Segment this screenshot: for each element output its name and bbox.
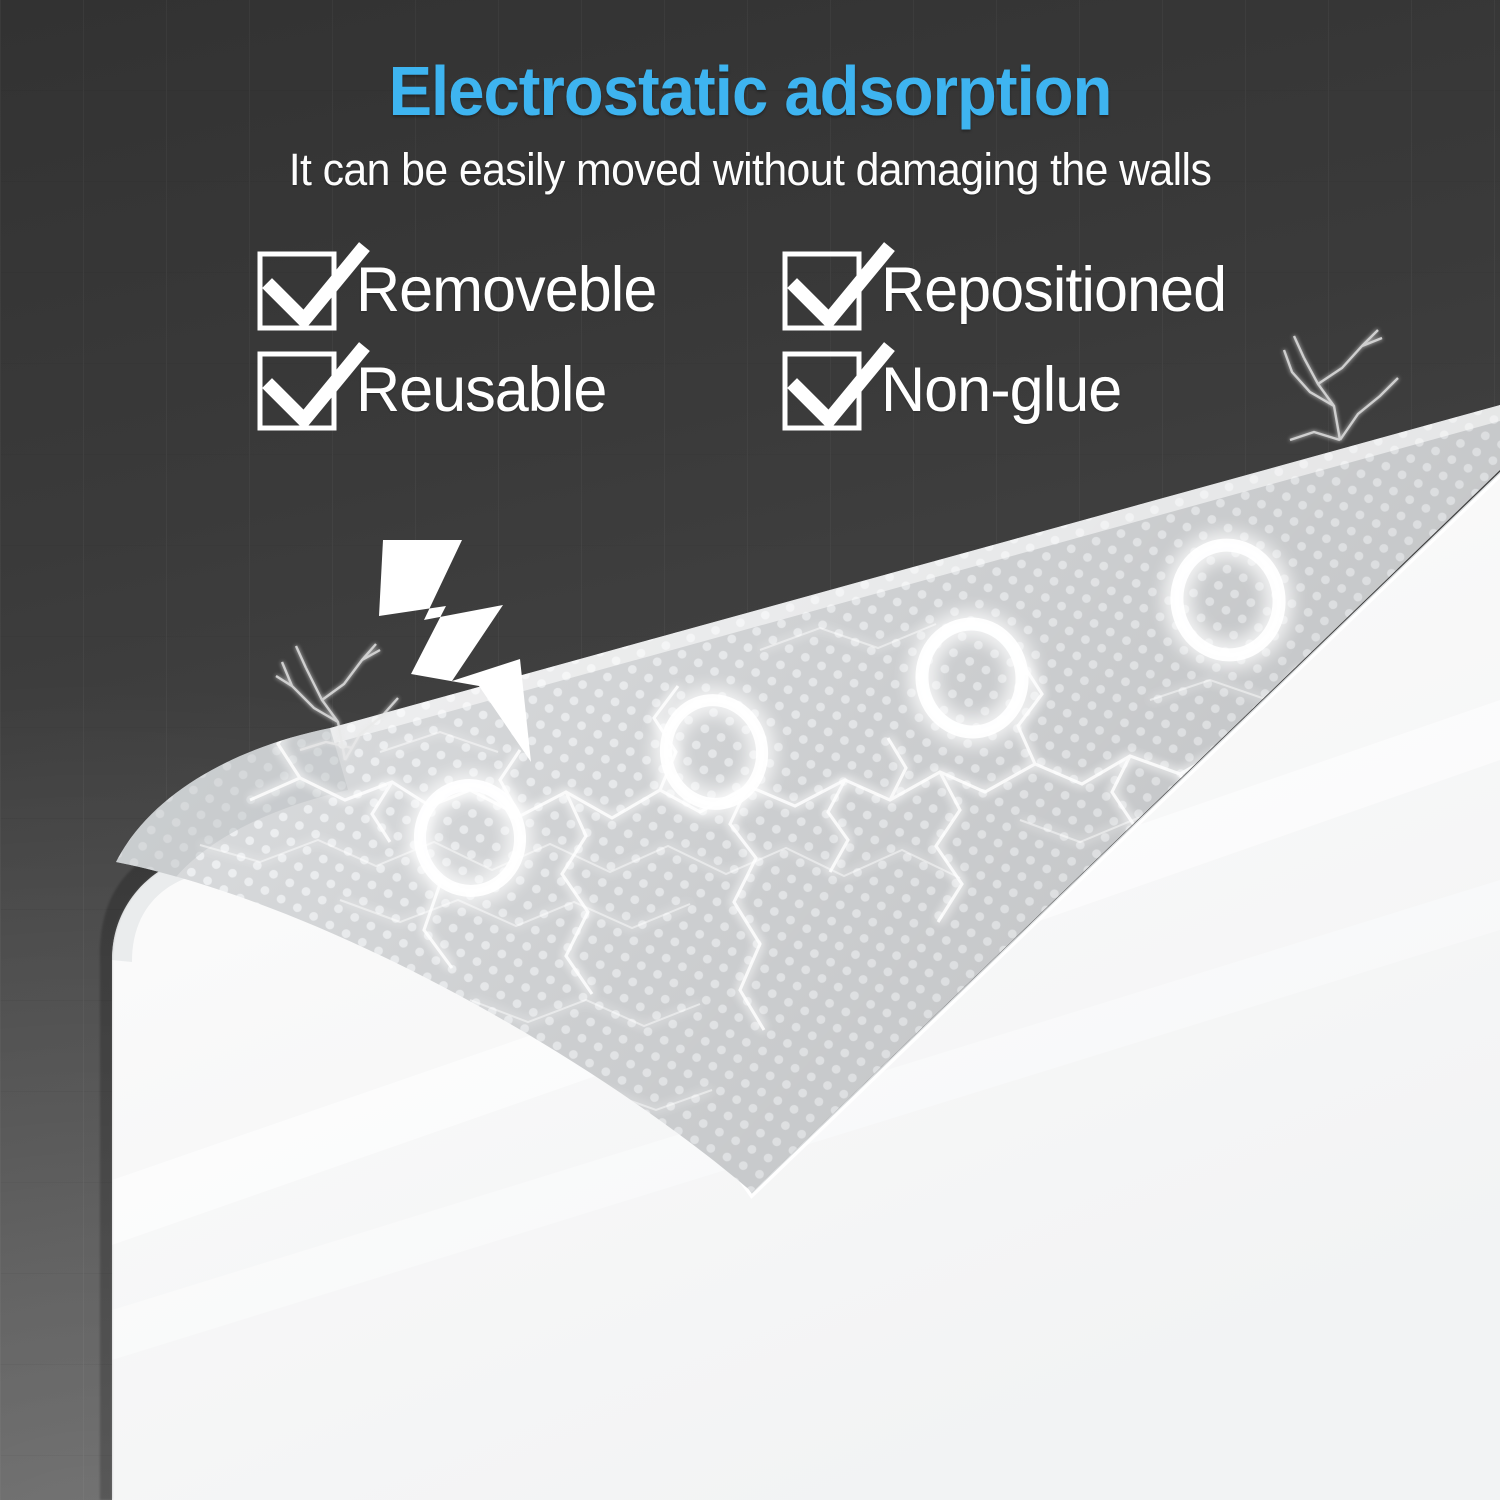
checkbox-checked-icon <box>258 252 334 328</box>
product-feature-graphic: Electrostatic adsorption It can be easil… <box>0 0 1500 1500</box>
feature-label: Repositioned <box>881 259 1226 322</box>
peeled-sheet-illustration <box>0 0 1500 1500</box>
checkbox-checked-icon <box>258 352 334 428</box>
page-subtitle: It can be easily moved without damaging … <box>38 147 1463 192</box>
feature-label: Reusable <box>356 359 606 422</box>
feature-checklist: Removeble Repositioned <box>258 252 1298 452</box>
feature-row: Removeble Repositioned <box>258 252 1298 328</box>
page-title: Electrostatic adsorption <box>53 56 1448 126</box>
checkbox-checked-icon <box>783 352 859 428</box>
feature-row: Reusable Non-glue <box>258 352 1298 428</box>
feature-item-reusable: Reusable <box>258 352 783 428</box>
feature-item-non-glue: Non-glue <box>783 352 1298 428</box>
feature-label: Removeble <box>356 259 656 322</box>
feature-item-removeble: Removeble <box>258 252 783 328</box>
feature-item-repositioned: Repositioned <box>783 252 1298 328</box>
feature-label: Non-glue <box>881 359 1121 422</box>
header-block: Electrostatic adsorption It can be easil… <box>0 0 1500 192</box>
edge-discharge-sparks-right <box>1284 330 1398 440</box>
checkbox-checked-icon <box>783 252 859 328</box>
